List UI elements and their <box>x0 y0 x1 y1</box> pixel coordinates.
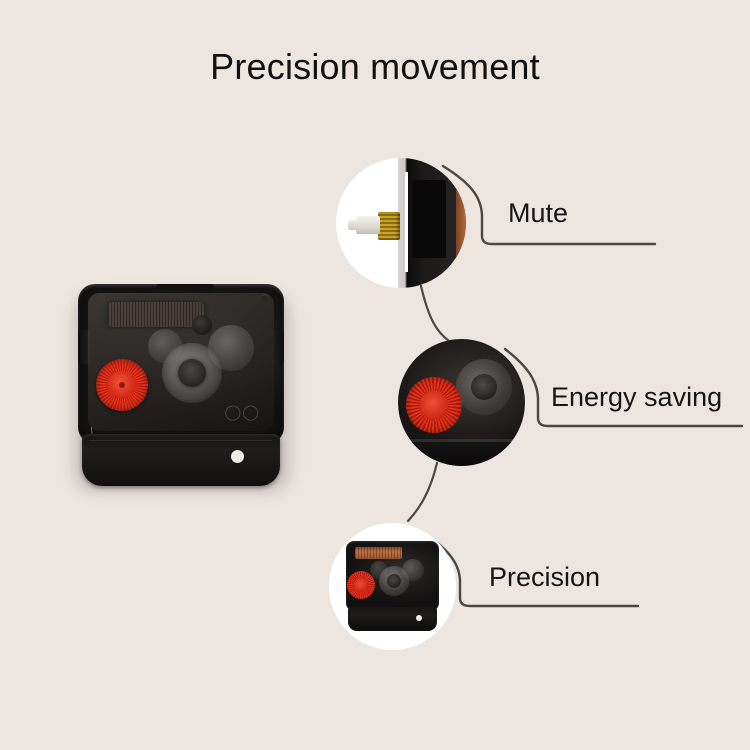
hand-shaft <box>356 216 380 234</box>
battery-indicator-dot <box>231 450 244 463</box>
feature-label-mute: Mute <box>508 198 568 229</box>
gear-large <box>162 343 222 403</box>
product-infographic: Precision movement ◯◯ <box>0 0 750 750</box>
copper-coil-mini <box>355 547 402 559</box>
battery-compartment <box>82 434 280 486</box>
product-image-main: ◯◯ <box>70 284 292 492</box>
gear-tiny <box>192 315 212 335</box>
movement-body: ◯◯ <box>78 284 284 444</box>
copper-coil-side <box>456 188 466 262</box>
callout-precision <box>329 523 456 650</box>
battery-indicator-dot-mini <box>416 615 422 621</box>
red-gear-wheel-mini <box>347 571 375 599</box>
red-gear-wheel-macro <box>406 377 462 433</box>
body-notch <box>412 180 446 258</box>
page-title: Precision movement <box>0 46 750 88</box>
brass-threaded-nut <box>378 212 400 240</box>
gear-large-macro <box>456 359 512 415</box>
feature-label-precision: Precision <box>489 562 600 593</box>
red-gear-wheel <box>96 359 148 411</box>
battery-compartment-edge <box>398 442 525 466</box>
hand-shaft-tip <box>348 220 359 230</box>
copper-coil <box>108 302 204 327</box>
callout-mute <box>336 158 466 288</box>
battery-compartment-mini <box>348 607 437 631</box>
callout-energy-saving <box>398 339 525 466</box>
gear-large-mini <box>379 566 409 596</box>
body-print-marking: ◯◯ <box>224 403 260 421</box>
mount-tab-top <box>156 284 214 292</box>
movement-window: ◯◯ <box>88 293 274 431</box>
movement-side-profile <box>398 158 466 288</box>
feature-label-energy-saving: Energy saving <box>551 382 722 413</box>
movement-body-mini <box>346 541 439 611</box>
body-slot <box>405 172 408 272</box>
movement-miniature <box>343 541 442 633</box>
